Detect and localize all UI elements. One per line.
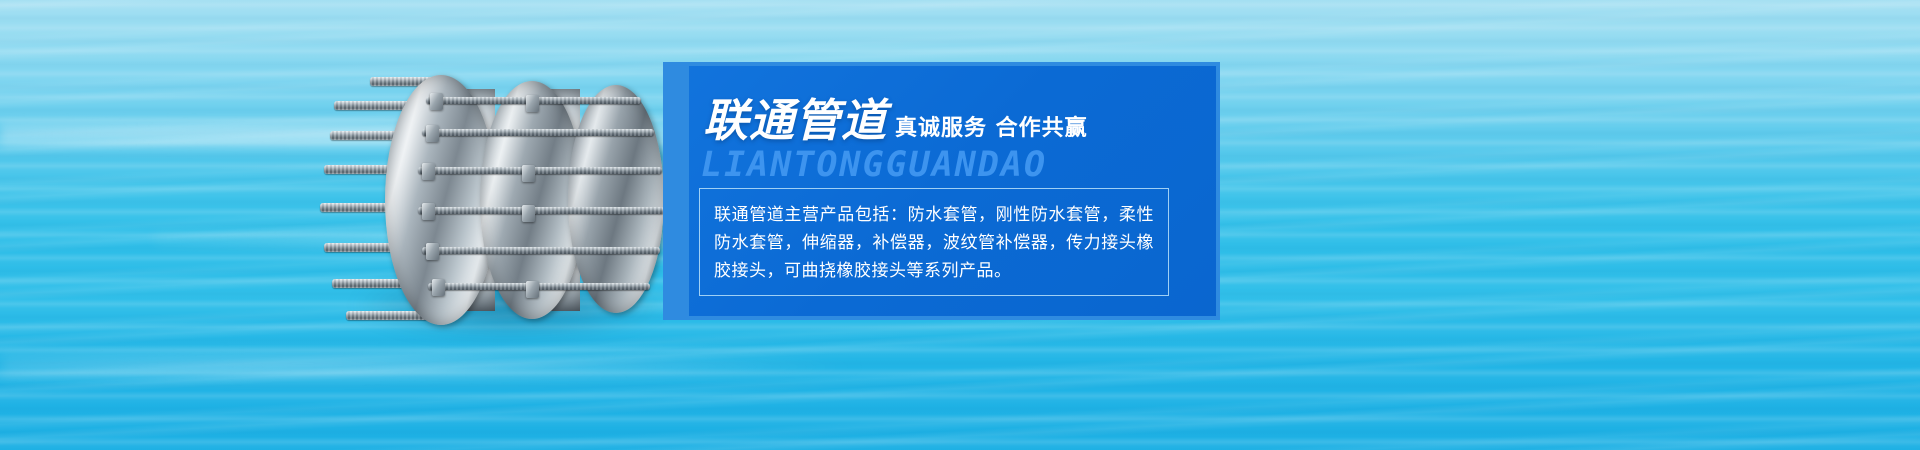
brand-pinyin-watermark: LIANTONGGUANDAO: [701, 148, 1047, 183]
brand-name: 联通管道: [703, 98, 887, 143]
promo-banner: 联通管道 真诚服务 合作共赢 LIANTONGGUANDAO 联通管道主营产品包…: [0, 0, 1920, 450]
product-image-pipe-coupling: [330, 55, 680, 345]
tie-rod: [418, 167, 662, 174]
product-description-text: 联通管道主营产品包括：防水套管，刚性防水套管，柔性防水套管，伸缩器，补偿器，波纹…: [714, 201, 1154, 285]
tie-rod: [418, 207, 664, 214]
bolt-nut: [522, 205, 535, 222]
panel-left-accent-bar: [667, 66, 689, 316]
bolt-nut: [426, 125, 439, 142]
bolt-nut: [526, 95, 539, 112]
bolt-nut: [526, 281, 539, 298]
brand-heading-row: 联通管道 真诚服务 合作共赢: [703, 98, 1088, 143]
promo-text-panel-inner: 联通管道 真诚服务 合作共赢 LIANTONGGUANDAO 联通管道主营产品包…: [667, 66, 1216, 316]
water-highlight-3: [0, 351, 864, 383]
bolt-nut: [422, 203, 435, 220]
tie-rod: [428, 283, 650, 290]
tie-rod: [422, 247, 660, 254]
bolt-nut: [432, 279, 445, 296]
promo-text-panel: 联通管道 真诚服务 合作共赢 LIANTONGGUANDAO 联通管道主营产品包…: [663, 62, 1220, 320]
brand-slogan: 真诚服务 合作共赢: [895, 118, 1088, 143]
tie-rod: [422, 129, 654, 136]
flange-ring: [568, 85, 664, 313]
product-description-box: 联通管道主营产品包括：防水套管，刚性防水套管，柔性防水套管，伸缩器，补偿器，波纹…: [699, 188, 1169, 296]
bolt-nut: [422, 163, 435, 180]
bolt-nut: [426, 243, 439, 260]
bolt-nut: [522, 165, 535, 182]
bolt-nut: [430, 93, 443, 110]
